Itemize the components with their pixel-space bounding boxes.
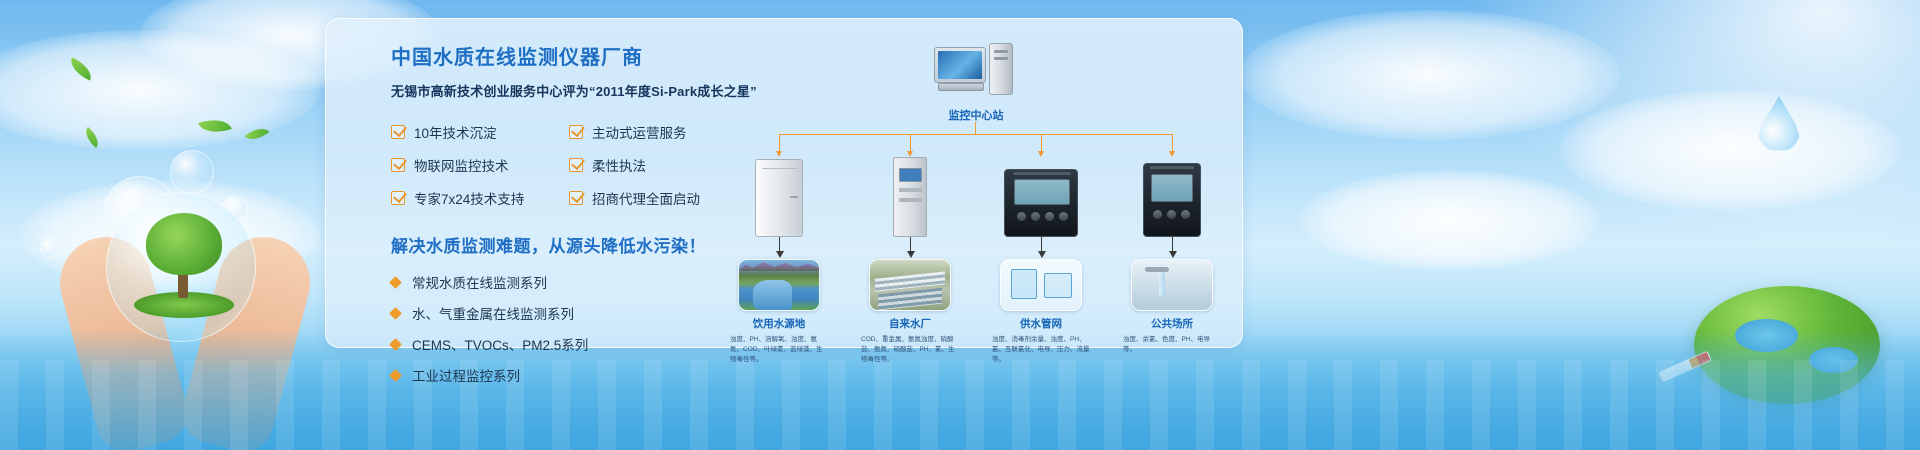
monitor-shape [934,47,986,83]
checkbox-checked-icon [569,191,583,205]
diamond-bullet-icon [389,369,402,382]
controller-lcd-shape [1151,174,1193,202]
scene-caption: 公共场所 [1117,316,1227,331]
hands-holding-tree-illustration [60,140,310,450]
down-arrow-icon [1172,237,1173,252]
scene-item[interactable]: 饮用水源地 浊度、PH、溶解氧、浊度、氨氮、COD、叶绿素、蓝绿藻、生物毒性等。 [724,259,834,364]
checkbox-checked-icon [569,158,583,172]
bubble-decoration [40,238,60,258]
scene-description: 浊度、PH、溶解氧、浊度、氨氮、COD、叶绿素、蓝绿藻、生物毒性等。 [724,335,834,364]
checkbox-checked-icon [391,158,405,172]
list-item-label: 常规水质在线监测系列 [412,272,547,292]
diamond-bullet-icon [389,276,402,289]
controller-buttons [1017,212,1068,221]
cloud-shape [1560,90,1900,210]
system-topology-diagram: 监控中心站 [756,29,1226,345]
globe-lake-shape [1735,319,1798,352]
list-item[interactable]: 工业过程监控系列 [391,365,791,385]
connector-drop [910,134,911,152]
checkbox-checked-icon [391,125,405,139]
device-row [756,151,1226,237]
connector-vertical [975,122,976,134]
checklist-item[interactable]: 专家7x24技术支持 [391,188,559,208]
arrow-row [756,237,1226,259]
desktop-computer-icon [934,43,1016,99]
green-globe-illustration [1694,286,1880,404]
scene-description: COD、重金属、氨氮浊度、硝酸盐、氨氮、硝酸盐、PH、氯、生物毒性等。 [855,335,965,364]
lcd-controller-icon [1143,163,1201,237]
main-content-panel: 中国水质在线监测仪器厂商 无锡市高新技术创业服务中心评为“2011年度Si-Pa… [325,18,1243,348]
controller-topbar-shape [1150,166,1194,169]
sun-glow [1460,0,1920,260]
checklist-item-label: 专家7x24技术支持 [414,188,524,208]
water-treatment-plant-photo [869,259,951,311]
analyzer-screen-shape [899,168,922,182]
down-arrow-icon [779,237,780,252]
down-arrow-icon [1041,237,1042,252]
scene-caption: 自来水厂 [855,316,965,331]
page-subtitle: 无锡市高新技术创业服务中心评为“2011年度Si-Park成长之星” [391,81,791,100]
diamond-bullet-icon [389,338,402,351]
river-landscape-photo [738,259,820,311]
analyzer-bar-shape [899,188,922,192]
list-item-label: CEMS、TVOCs、PM2.5系列 [412,334,588,354]
checklist-item-label: 主动式运营服务 [592,122,687,142]
analyzer-bar-shape [899,198,922,202]
controller-topbar-shape [1013,172,1071,175]
checklist-item[interactable]: 物联网监控技术 [391,155,559,175]
cloud-shape [1300,170,1600,270]
globe-lake-shape [1809,347,1857,373]
tower-case-shape [989,43,1013,95]
online-analyzer-device[interactable] [855,151,965,237]
pipe-network-diagram-photo [1000,259,1082,311]
page-title: 中国水质在线监测仪器厂商 [391,41,791,70]
connector-drop [1041,134,1042,152]
rack-analyzer-icon [893,157,927,237]
lcd-controller-icon [1004,169,1078,237]
tap-water-photo [1131,259,1213,311]
cloud-shape [1240,10,1620,140]
cabinet-analyzer-icon [755,159,803,237]
checklist-item-label: 柔性执法 [592,155,646,175]
center-station-label: 监控中心站 [906,107,1046,123]
checklist-item-label: 物联网监控技术 [414,155,509,175]
monitor-base-shape [938,83,984,91]
diamond-bullet-icon [389,307,402,320]
connector-drop [779,134,780,152]
leaf-decoration-icon [66,57,95,80]
tree-crown-shape [146,213,222,275]
checkbox-checked-icon [569,125,583,139]
connector-drop [1172,134,1173,152]
down-arrow-icon [910,237,911,252]
list-item-label: 工业过程监控系列 [412,365,520,385]
monitor-screen-shape [938,51,982,79]
checklist-item[interactable]: 10年技术沉淀 [391,122,559,142]
water-cabinet-device[interactable] [724,151,834,237]
scene-item[interactable]: 供水管网 浊度、消毒剂余量、浊度、PH、氯、互联氯化、电导、压力、流量等。 [986,259,1096,364]
scene-description: 浊度、余氯、色度、PH、电导等。 [1117,335,1227,355]
scene-description: 浊度、消毒剂余量、浊度、PH、氯、互联氯化、电导、压力、流量等。 [986,335,1096,364]
scene-caption: 供水管网 [986,316,1096,331]
wide-controller-device[interactable] [986,151,1096,237]
scene-item[interactable]: 自来水厂 COD、重金属、氨氮浊度、硝酸盐、氨氮、硝酸盐、PH、氯、生物毒性等。 [855,259,965,364]
scene-row: 饮用水源地 浊度、PH、溶解氧、浊度、氨氮、COD、叶绿素、蓝绿藻、生物毒性等。… [756,259,1226,345]
list-item-label: 水、气重金属在线监测系列 [412,303,574,323]
connector-horizontal [779,134,1172,135]
controller-buttons [1153,210,1190,219]
scene-caption: 饮用水源地 [724,316,834,331]
water-droplet-icon [1758,96,1800,152]
scene-item[interactable]: 公共场所 浊度、余氯、色度、PH、电导等。 [1117,259,1227,355]
checkbox-checked-icon [391,191,405,205]
cloud-shape [0,30,320,150]
leaf-decoration-icon [198,114,231,138]
checklist-item-label: 招商代理全面启动 [592,188,700,208]
slim-controller-device[interactable] [1117,151,1227,237]
checklist-item-label: 10年技术沉淀 [414,122,497,142]
controller-lcd-shape [1014,179,1070,205]
